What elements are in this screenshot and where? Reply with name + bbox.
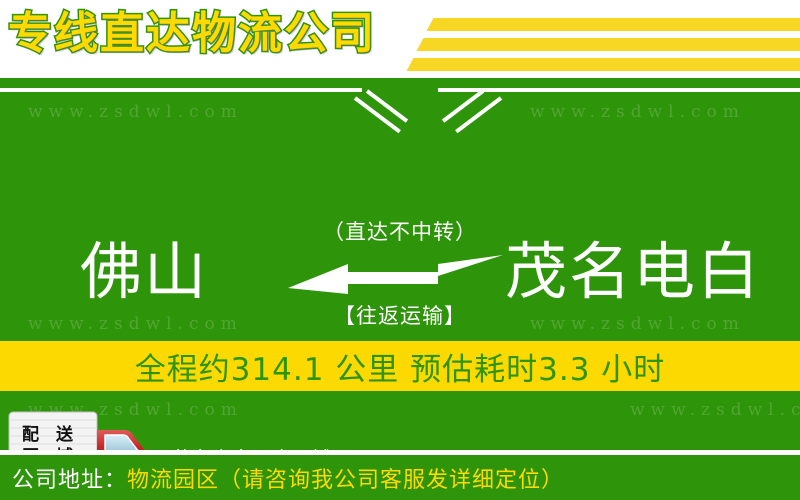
logistics-banner: 专线直达物流公司 www.zsdwl.com www.zsdwl.com www…: [0, 0, 800, 500]
footer-address-label: 公司地址：: [12, 462, 127, 494]
top-rule-right: [438, 88, 800, 92]
header-stripe-1: [427, 18, 800, 31]
company-title: 专线直达物流公司: [8, 7, 376, 61]
watermark: www.zsdwl.com: [28, 102, 243, 122]
header-stripe-3: [407, 58, 800, 71]
chevron-down-icon: [366, 89, 408, 122]
footer-address-value: 物流园区（请咨询我公司客服发详细定位）: [127, 462, 564, 494]
banner-footer: 公司地址： 物流园区（请咨询我公司客服发详细定位）: [0, 455, 800, 500]
top-rule-left: [0, 88, 362, 92]
banner-header: 专线直达物流公司: [0, 0, 800, 78]
watermark: www.zsdwl.com: [530, 314, 745, 334]
bidirectional-arrow-icon: [288, 250, 503, 298]
chevron-down-icon: [455, 96, 502, 133]
distance-band: 全程约314.1 公里 预估耗时3.3 小时: [0, 341, 800, 391]
truck-label-qu: 区: [22, 442, 39, 450]
route-note-direct: （直达不中转）: [300, 216, 500, 246]
route-note-roundtrip: 【往返运输】: [295, 300, 505, 330]
watermark: www.zsdwl.com: [530, 102, 745, 122]
banner-body: www.zsdwl.com www.zsdwl.com www.zsdwl.co…: [0, 78, 800, 450]
origin-city: 佛山: [80, 236, 208, 308]
distance-text: 全程约314.1 公里 预估耗时3.3 小时: [135, 344, 666, 389]
header-stripe-2: [417, 38, 800, 51]
watermark: www.zsdwl.com: [28, 314, 243, 334]
truck-label-yu: 域: [56, 442, 73, 450]
destination-city: 茂名电白: [505, 236, 761, 308]
watermark: www.zsdwl.com: [630, 400, 800, 420]
